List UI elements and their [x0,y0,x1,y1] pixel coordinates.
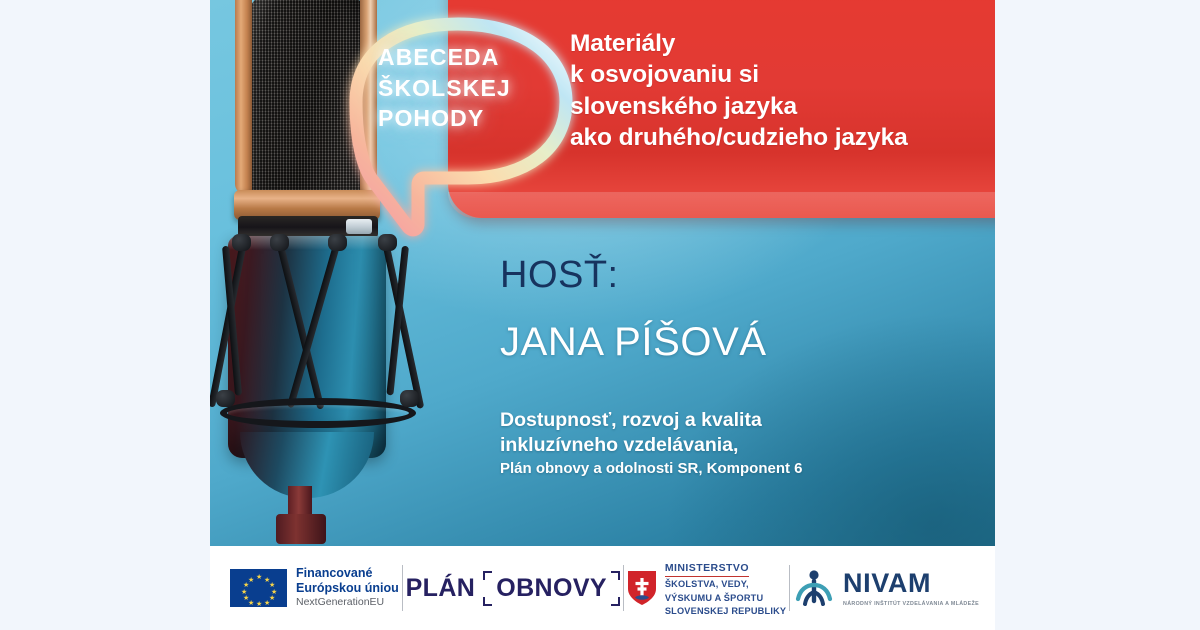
nivam-figure-icon [793,568,835,608]
eu-funding-line-3: NextGenerationEU [296,596,399,610]
logo-ministerstvo: MINISTERSTVO ŠKOLSTVA, VEDY, VÝSKUMU A Š… [627,557,786,619]
guest-label: HOSŤ: [500,254,619,297]
footer-logo-bar: ★ ★ ★ ★ ★ ★ ★ ★ ★ ★ ★ ★ Financované Euró… [210,546,995,630]
microphone-base [276,514,326,544]
shock-mount-knob [270,234,289,251]
ministerstvo-line-3: VÝSKUMU A ŠPORTU [665,593,786,605]
bracket-corner-top-right [611,571,620,580]
ministerstvo-line-2: ŠKOLSTVA, VEDY, [665,579,786,591]
poster-card: Materiály k osvojovaniu si slovenského j… [210,0,995,630]
logo-plan-obnovy: PLÁN OBNOVY [406,557,620,619]
microphone-grille-rim-left [235,0,252,194]
ministerstvo-text: MINISTERSTVO ŠKOLSTVA, VEDY, VÝSKUMU A Š… [665,558,786,618]
footer-divider-3 [789,565,790,611]
speech-bubble-text: ABECEDA ŠKOLSKEJ POHODY [378,42,558,134]
eu-funding-line-2: Európskou úniou [296,581,399,596]
red-banner-text: Materiály k osvojovaniu si slovenského j… [570,28,990,154]
page-root: Materiály k osvojovaniu si slovenského j… [0,0,1200,630]
shock-mount-knob [216,390,235,407]
red-banner-line-1: Materiály [570,28,990,59]
footer-divider-2 [623,565,624,611]
plan-obnovy-word-2: OBNOVY [496,574,607,602]
shock-mount-knob [400,390,419,407]
guest-name: JANA PÍŠOVÁ [500,320,767,365]
logo-nivam: NIVAM NÁRODNÝ INŠTITÚT VZDELÁVANIA A MLÁ… [793,557,995,619]
footer-divider-1 [402,565,403,611]
shock-mount-ring [220,398,416,428]
red-banner-line-4: ako druhého/cudzieho jazyka [570,122,990,153]
poster-artwork: Materiály k osvojovaniu si slovenského j… [210,0,995,546]
plan-obnovy-bracket-box: OBNOVY [483,571,620,606]
bracket-corner-bottom-left [483,597,492,606]
plan-obnovy-word-1: PLÁN [406,574,476,603]
bubble-line-2: ŠKOLSKEJ [378,73,558,104]
nivam-text: NIVAM NÁRODNÝ INŠTITÚT VZDELÁVANIA A MLÁ… [843,570,979,607]
red-banner-line-2: k osvojovaniu si [570,59,990,90]
programme-line-2: inkluzívneho vzdelávania, [500,433,803,458]
bubble-line-1: ABECEDA [378,42,558,73]
programme-block: Dostupnosť, rozvoj a kvalita inkluzívneh… [500,408,803,479]
nivam-subtitle: NÁRODNÝ INŠTITÚT VZDELÁVANIA A MLÁDEŽE [843,601,979,607]
red-banner-line-3: slovenského jazyka [570,91,990,122]
bracket-corner-bottom-right [611,597,620,606]
nivam-wordmark: NIVAM [843,570,979,597]
ministerstvo-line-4: SLOVENSKEJ REPUBLIKY [665,606,786,618]
bracket-corner-top-left [483,571,492,580]
eu-funding-line-1: Financované [296,566,399,581]
bubble-line-3: POHODY [378,103,558,134]
logo-eu-funding: ★ ★ ★ ★ ★ ★ ★ ★ ★ ★ ★ ★ Financované Euró… [210,557,399,619]
programme-line-1: Dostupnosť, rozvoj a kvalita [500,408,803,433]
shock-mount-knob [232,234,251,251]
ministerstvo-line-1: MINISTERSTVO [665,562,749,577]
programme-line-3: Plán obnovy a odolnosti SR, Komponent 6 [500,458,803,479]
eu-funding-text: Financované Európskou úniou NextGenerati… [296,566,399,610]
slovak-coat-of-arms-icon [627,569,657,607]
shock-mount-knob [378,234,397,251]
shock-mount-knob [328,234,347,251]
eu-flag-icon: ★ ★ ★ ★ ★ ★ ★ ★ ★ ★ ★ ★ [230,569,287,607]
